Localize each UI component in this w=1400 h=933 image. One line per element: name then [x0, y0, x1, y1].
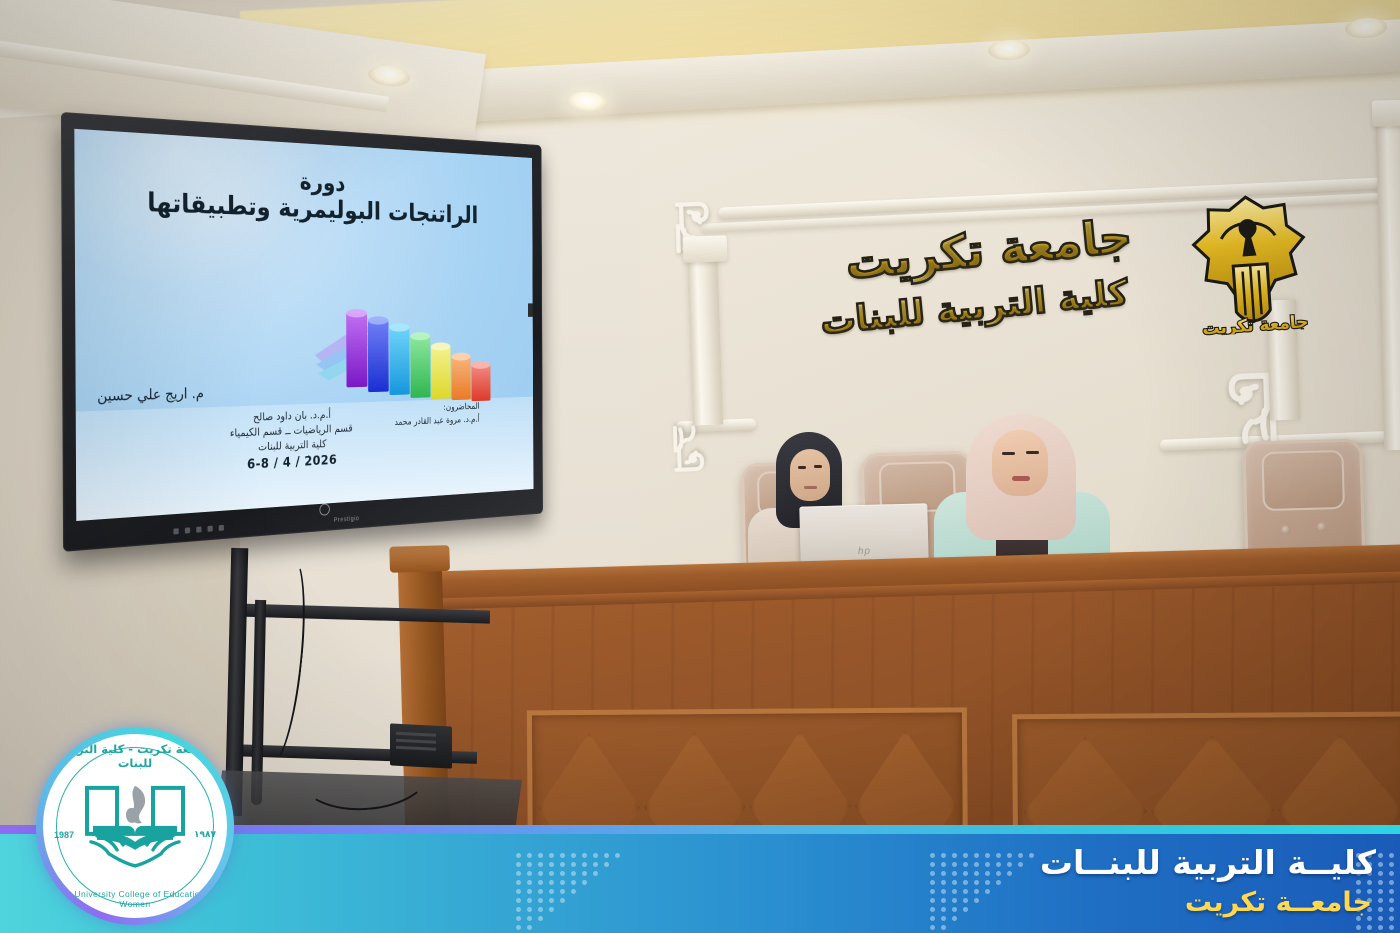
footer-dot	[1378, 871, 1383, 876]
footer-dot	[527, 925, 532, 930]
seal-year-arabic: ١٩٨٧	[194, 830, 216, 840]
footer-dot	[974, 853, 979, 858]
laptop[interactable]: hp	[799, 503, 928, 564]
footer-dot	[516, 853, 521, 858]
wall-pilaster-cap	[1372, 99, 1400, 126]
person-eye	[1002, 452, 1015, 455]
display-button[interactable]	[208, 526, 213, 532]
footer-dot	[1389, 916, 1394, 921]
footer-dot	[549, 871, 554, 876]
footer-dot	[582, 871, 587, 876]
footer-dot	[930, 880, 935, 885]
footer-dot	[527, 853, 532, 858]
footer-dot	[930, 925, 935, 930]
slide-title: دورة الراتنجات البوليمرية وتطبيقاتها	[74, 156, 532, 232]
display-screen[interactable]: دورة الراتنجات البوليمرية وتطبيقاتها	[74, 129, 533, 521]
footer-dot	[560, 889, 565, 894]
footer-dot	[527, 871, 532, 876]
footer-dot	[963, 862, 968, 867]
footer-dot	[1389, 925, 1394, 930]
footer-dot	[996, 862, 1001, 867]
footer-dot	[974, 889, 979, 894]
footer-dot	[963, 853, 968, 858]
display-control-buttons[interactable]	[173, 525, 223, 535]
slide-beakers-graphic	[314, 299, 500, 409]
footer-dot	[985, 880, 990, 885]
footer-dot	[941, 916, 946, 921]
laptop-brand-logo: hp	[858, 546, 871, 557]
footer-dot	[963, 898, 968, 903]
person-mouth	[804, 486, 817, 489]
slide-presenter-left: م. اريج علي حسين	[97, 385, 204, 405]
college-seal-logo: جامعة تكريت - كلية التربية للبنات Tikrit…	[36, 727, 234, 925]
footer-dot	[560, 871, 565, 876]
seal-english-text: Tikrit University College of Education f…	[43, 889, 227, 909]
footer-dot	[996, 853, 1001, 858]
footer-dot	[996, 880, 1001, 885]
footer-dot	[516, 907, 521, 912]
footer-dot	[516, 925, 521, 930]
footer-dot	[930, 853, 935, 858]
footer-dot	[1389, 907, 1394, 912]
footer-dot	[549, 853, 554, 858]
footer-dot	[941, 907, 946, 912]
footer-dot	[1378, 925, 1383, 930]
footer-dot	[1356, 925, 1361, 930]
footer-dot	[527, 862, 532, 867]
footer-dot	[1378, 853, 1383, 858]
footer-dot	[527, 880, 532, 885]
footer-dot	[538, 853, 543, 858]
footer-dot	[604, 853, 609, 858]
footer-dot	[941, 853, 946, 858]
footer-dot	[985, 862, 990, 867]
person-eye	[814, 465, 822, 468]
footer-dot	[593, 862, 598, 867]
footer-dot	[582, 853, 587, 858]
footer-college-name-ar: كليــة التربية للبنــات	[1040, 843, 1376, 882]
footer-dot	[582, 880, 587, 885]
footer-dot	[985, 853, 990, 858]
person-eye	[1026, 451, 1039, 454]
chair-headrest	[1261, 450, 1345, 511]
footer-dot	[538, 862, 543, 867]
footer-dot	[527, 898, 532, 903]
footer-dot	[974, 898, 979, 903]
footer-dot	[952, 871, 957, 876]
seal-year-latin: 1987	[54, 830, 74, 840]
footer-dot	[930, 898, 935, 903]
footer-dot	[538, 898, 543, 903]
footer-dot	[571, 880, 576, 885]
footer-dot	[1007, 853, 1012, 858]
footer-dot	[1378, 907, 1383, 912]
desk-side-post-cap	[389, 545, 450, 573]
footer-dot	[974, 880, 979, 885]
footer-dot	[1018, 862, 1023, 867]
footer-dot	[1389, 871, 1394, 876]
footer-dot	[593, 871, 598, 876]
footer-dot	[516, 880, 521, 885]
footer-dot	[930, 889, 935, 894]
footer-dot	[941, 871, 946, 876]
display-brand-label: Prestigio	[334, 516, 360, 524]
footer-dot	[930, 907, 935, 912]
footer-dot	[516, 889, 521, 894]
footer-dot	[1389, 862, 1394, 867]
chair-tuft	[1281, 525, 1290, 534]
footer-dot	[952, 898, 957, 903]
footer-dot	[604, 862, 609, 867]
footer-dot	[963, 871, 968, 876]
footer-dot	[930, 916, 935, 921]
footer-dot	[1389, 853, 1394, 858]
screenshot-root: جامعة تكريت كلية التربية للبنات جامعة تك…	[0, 0, 1400, 933]
footer-dot	[1378, 916, 1383, 921]
footer-dot	[1007, 862, 1012, 867]
footer-dot	[941, 862, 946, 867]
footer-university-name-ar: جامعــة تكريت	[1185, 887, 1372, 918]
footer-dot	[560, 880, 565, 885]
footer-dot	[941, 925, 946, 930]
footer-dot	[952, 862, 957, 867]
footer-dot-pattern	[930, 853, 1040, 931]
footer-dot	[952, 880, 957, 885]
footer-dot	[571, 862, 576, 867]
footer-dot	[952, 916, 957, 921]
footer-dot	[571, 889, 576, 894]
footer-dot	[615, 853, 620, 858]
wall-pilaster-cap	[683, 235, 728, 263]
footer-dot	[1378, 880, 1383, 885]
footer-dot	[963, 880, 968, 885]
footer-dot-pattern	[516, 853, 626, 931]
footer-dot	[1378, 898, 1383, 903]
footer-dot	[560, 853, 565, 858]
footer-dot	[930, 871, 935, 876]
footer-dot	[952, 853, 957, 858]
footer-dot	[996, 871, 1001, 876]
seal-inner: جامعة تكريت - كلية التربية للبنات Tikrit…	[43, 734, 227, 918]
slide-right-block: المحاضرون: أ.م.د. مروة عبد القادر محمد	[394, 400, 479, 429]
slide-center-block: أ.م.د. بان داود صالح قسم الرياضيات ــ قس…	[230, 406, 353, 476]
footer-dot	[963, 889, 968, 894]
footer-dot	[1378, 889, 1383, 894]
footer-dot	[527, 916, 532, 921]
footer-dot	[560, 862, 565, 867]
footer-dot	[941, 880, 946, 885]
display-button[interactable]	[185, 527, 190, 533]
person-mouth	[1012, 476, 1030, 481]
footer-dot	[516, 871, 521, 876]
footer-dot	[1389, 889, 1394, 894]
interactive-display[interactable]: دورة الراتنجات البوليمرية وتطبيقاتها	[61, 112, 543, 552]
footer-dot	[985, 871, 990, 876]
podium-desk	[416, 544, 1400, 872]
university-emblem-icon: جامعة تكريت	[1180, 189, 1319, 338]
footer-dot	[538, 880, 543, 885]
seal-book-and-woman-icon	[75, 770, 195, 878]
footer-dot	[538, 907, 543, 912]
footer-dot	[516, 862, 521, 867]
display-button[interactable]	[219, 525, 224, 531]
footer-dot	[538, 889, 543, 894]
footer-dot	[1367, 925, 1372, 930]
footer-dot	[516, 898, 521, 903]
footer-dot	[549, 862, 554, 867]
person-face	[992, 430, 1048, 496]
footer-dot	[549, 907, 554, 912]
wall-pilaster	[687, 245, 723, 426]
footer-dot	[974, 871, 979, 876]
display-power-indicator	[319, 503, 329, 516]
footer-dot	[527, 889, 532, 894]
chair-tuft	[1317, 522, 1326, 531]
display-button[interactable]	[173, 528, 178, 534]
footer-dot	[549, 898, 554, 903]
footer-dot	[538, 871, 543, 876]
footer-dot	[549, 889, 554, 894]
display-side-sensor	[528, 304, 534, 317]
footer-dot	[974, 862, 979, 867]
footer-dot	[1378, 862, 1383, 867]
footer-dot	[560, 898, 565, 903]
footer-dot	[527, 907, 532, 912]
footer-dot	[1018, 853, 1023, 858]
footer-dot	[1007, 871, 1012, 876]
person-face	[790, 449, 830, 501]
footer-dot	[571, 853, 576, 858]
footer-dot	[985, 889, 990, 894]
footer-dot	[1389, 898, 1394, 903]
footer-dot	[1029, 853, 1034, 858]
footer-dot	[516, 916, 521, 921]
footer-dot	[582, 862, 587, 867]
footer-dot	[930, 862, 935, 867]
ornament-scroll-icon	[671, 419, 729, 477]
display-bezel: دورة الراتنجات البوليمرية وتطبيقاتها	[61, 112, 543, 552]
footer-dot	[593, 853, 598, 858]
footer-dot	[952, 889, 957, 894]
footer-dot	[549, 880, 554, 885]
display-button[interactable]	[196, 527, 201, 533]
footer-dot	[538, 916, 543, 921]
footer-dot	[941, 898, 946, 903]
person-seated-right	[940, 416, 1100, 576]
footer-dot	[963, 907, 968, 912]
person-eye	[798, 466, 806, 469]
footer-dot	[941, 889, 946, 894]
footer-dot	[571, 871, 576, 876]
footer-dot	[1389, 880, 1394, 885]
footer-dot	[952, 907, 957, 912]
seal-arabic-text: جامعة تكريت - كلية التربية للبنات	[43, 742, 227, 770]
